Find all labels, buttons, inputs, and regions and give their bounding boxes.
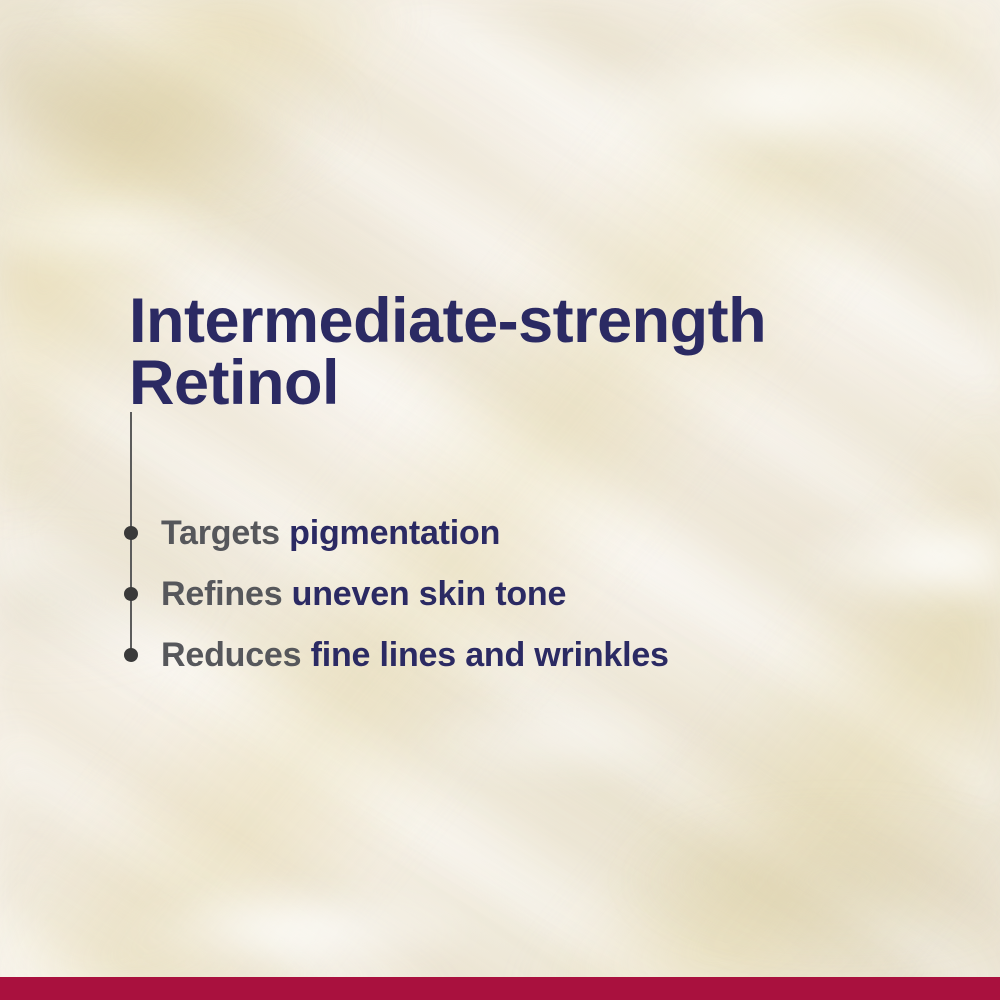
bullet-dot-icon bbox=[124, 526, 138, 540]
benefit-highlight: uneven skin tone bbox=[292, 575, 567, 613]
benefit-text: Targets pigmentation bbox=[161, 508, 500, 558]
page-title: Intermediate-strength Retinol bbox=[129, 290, 829, 414]
benefit-lead-word: Refines bbox=[161, 575, 292, 613]
bullet-dot-icon bbox=[124, 648, 138, 662]
benefit-text: Reduces fine lines and wrinkles bbox=[161, 630, 669, 680]
product-feature-card: Intermediate-strength Retinol Targets pi… bbox=[0, 0, 1000, 1000]
bullet-dot-icon bbox=[124, 587, 138, 601]
benefit-highlight: pigmentation bbox=[289, 514, 500, 552]
card-content: Intermediate-strength Retinol Targets pi… bbox=[0, 0, 1000, 1000]
benefit-text: Refines uneven skin tone bbox=[161, 569, 566, 619]
benefit-highlight: fine lines and wrinkles bbox=[311, 636, 669, 674]
benefit-lead-word: Targets bbox=[161, 514, 289, 552]
bottom-accent-bar bbox=[0, 977, 1000, 1000]
benefit-lead-word: Reduces bbox=[161, 636, 311, 674]
